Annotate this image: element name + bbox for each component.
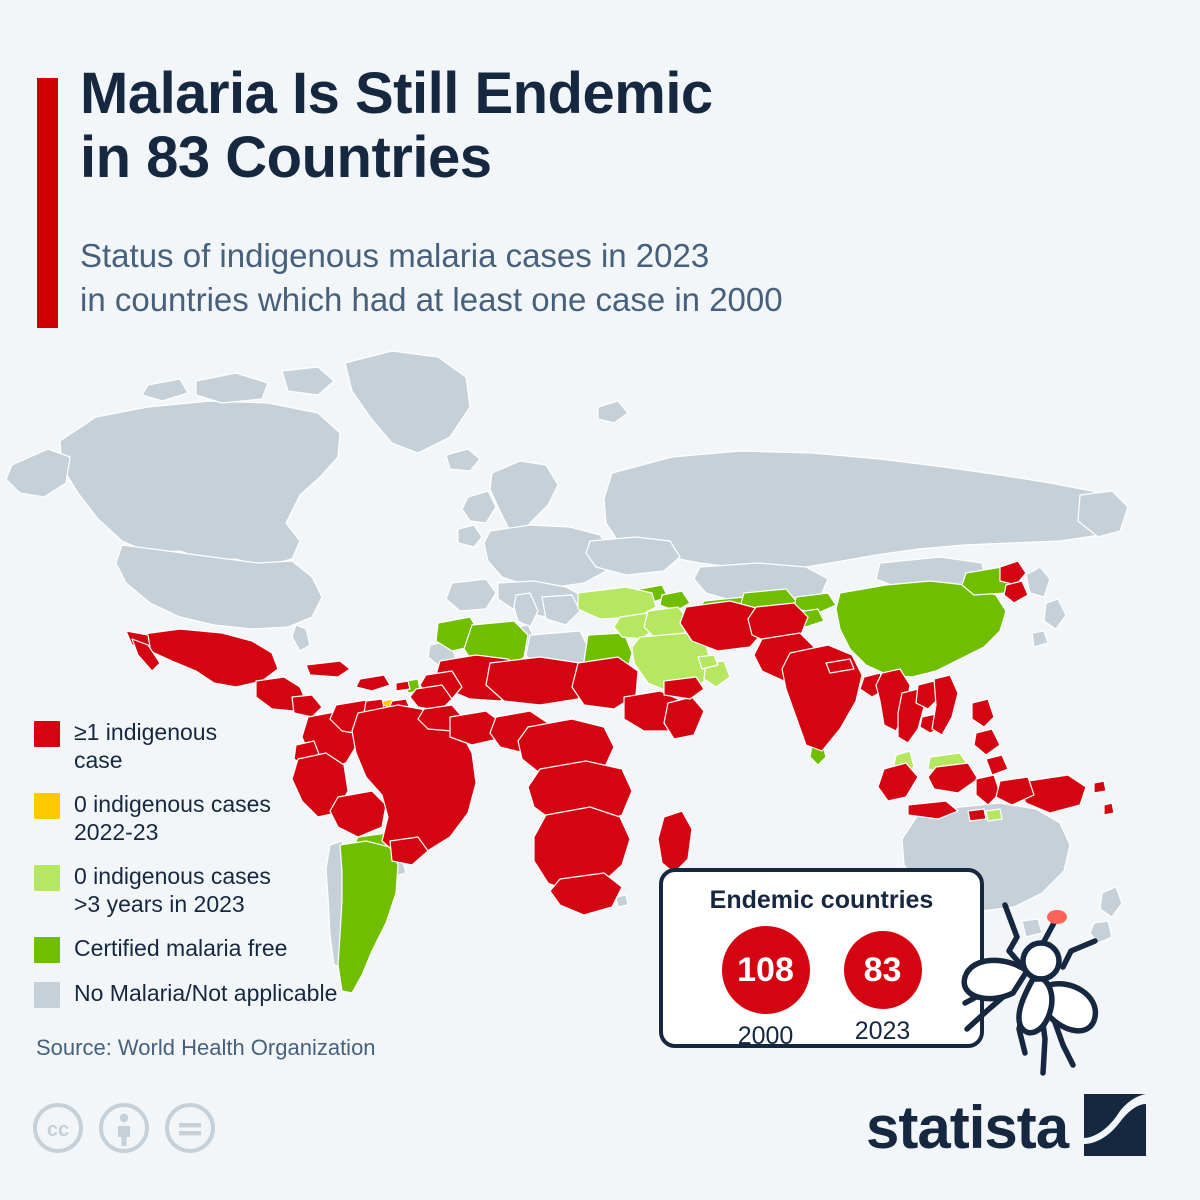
legend-label-certified-free: Certified malaria free (74, 934, 287, 962)
infographic-root: Malaria Is Still Endemic in 83 Countries… (0, 0, 1200, 1200)
legend-swatch-endemic (34, 721, 60, 747)
title-line-2: in 83 Countries (80, 126, 980, 190)
legend-text-line: >3 years in 2023 (74, 890, 271, 918)
legend-text-line: 2022-23 (74, 818, 271, 846)
stat-year-2023: 2023 (855, 1017, 911, 1046)
statista-logo: statista (866, 1094, 1146, 1161)
legend-label-no-malaria: No Malaria/Not applicable (74, 979, 337, 1007)
stat-bubble-2000: 108 (722, 926, 810, 1014)
legend-text-line: No Malaria/Not applicable (74, 979, 337, 1007)
mosquito-icon (945, 893, 1125, 1078)
blood-drop-icon (1047, 910, 1067, 924)
legend-item-no-malaria: No Malaria/Not applicable (34, 979, 434, 1008)
legend-swatch-certified-free (34, 937, 60, 963)
creative-commons-icon: cc (32, 1102, 84, 1159)
page-title: Malaria Is Still Endemic in 83 Countries (80, 62, 980, 190)
title-line-1: Malaria Is Still Endemic (80, 62, 980, 126)
no-derivatives-icon (164, 1102, 216, 1159)
page-subtitle: Status of indigenous malaria cases in 20… (80, 234, 1040, 321)
attribution-icon (98, 1102, 150, 1159)
legend-text-line: Certified malaria free (74, 934, 287, 962)
legend-label-endemic: ≥1 indigenous case (74, 718, 217, 774)
legend-item-endemic: ≥1 indigenous case (34, 718, 434, 774)
subtitle-line-2: in countries which had at least one case… (80, 278, 1040, 322)
legend-text-line: ≥1 indigenous (74, 718, 217, 746)
statista-wordmark: statista (866, 1098, 1068, 1158)
legend-swatch-no-malaria (34, 982, 60, 1008)
stat-2000: 108 2000 (722, 926, 810, 1051)
legend-swatch-zero-cases-3-years (34, 865, 60, 891)
statista-mark-icon (1084, 1094, 1146, 1161)
subtitle-line-1: Status of indigenous malaria cases in 20… (80, 234, 1040, 278)
endemic-countries-callout: Endemic countries 108 2000 83 2023 (659, 868, 984, 1048)
callout-stats: 108 2000 83 2023 (663, 926, 980, 1051)
map-legend: ≥1 indigenous case 0 indigenous cases 20… (34, 718, 434, 1008)
svg-text:cc: cc (47, 1119, 69, 1141)
stat-bubble-2023: 83 (844, 931, 922, 1009)
legend-item-certified-free: Certified malaria free (34, 934, 434, 963)
callout-title: Endemic countries (663, 886, 980, 915)
stat-2023: 83 2023 (844, 926, 922, 1051)
title-accent-bar (37, 78, 58, 328)
legend-swatch-zero-cases-2022-23 (34, 793, 60, 819)
legend-item-zero-cases-2022-23: 0 indigenous cases 2022-23 (34, 790, 434, 846)
legend-item-zero-cases-3-years: 0 indigenous cases >3 years in 2023 (34, 862, 434, 918)
legend-label-zero-cases-2022-23: 0 indigenous cases 2022-23 (74, 790, 271, 846)
legend-text-line: 0 indigenous cases (74, 790, 271, 818)
legend-text-line: 0 indigenous cases (74, 862, 271, 890)
legend-label-zero-cases-3-years: 0 indigenous cases >3 years in 2023 (74, 862, 271, 918)
stat-year-2000: 2000 (738, 1022, 794, 1051)
license-icons: cc (32, 1102, 216, 1159)
source-note: Source: World Health Organization (36, 1035, 376, 1061)
legend-text-line: case (74, 746, 217, 774)
